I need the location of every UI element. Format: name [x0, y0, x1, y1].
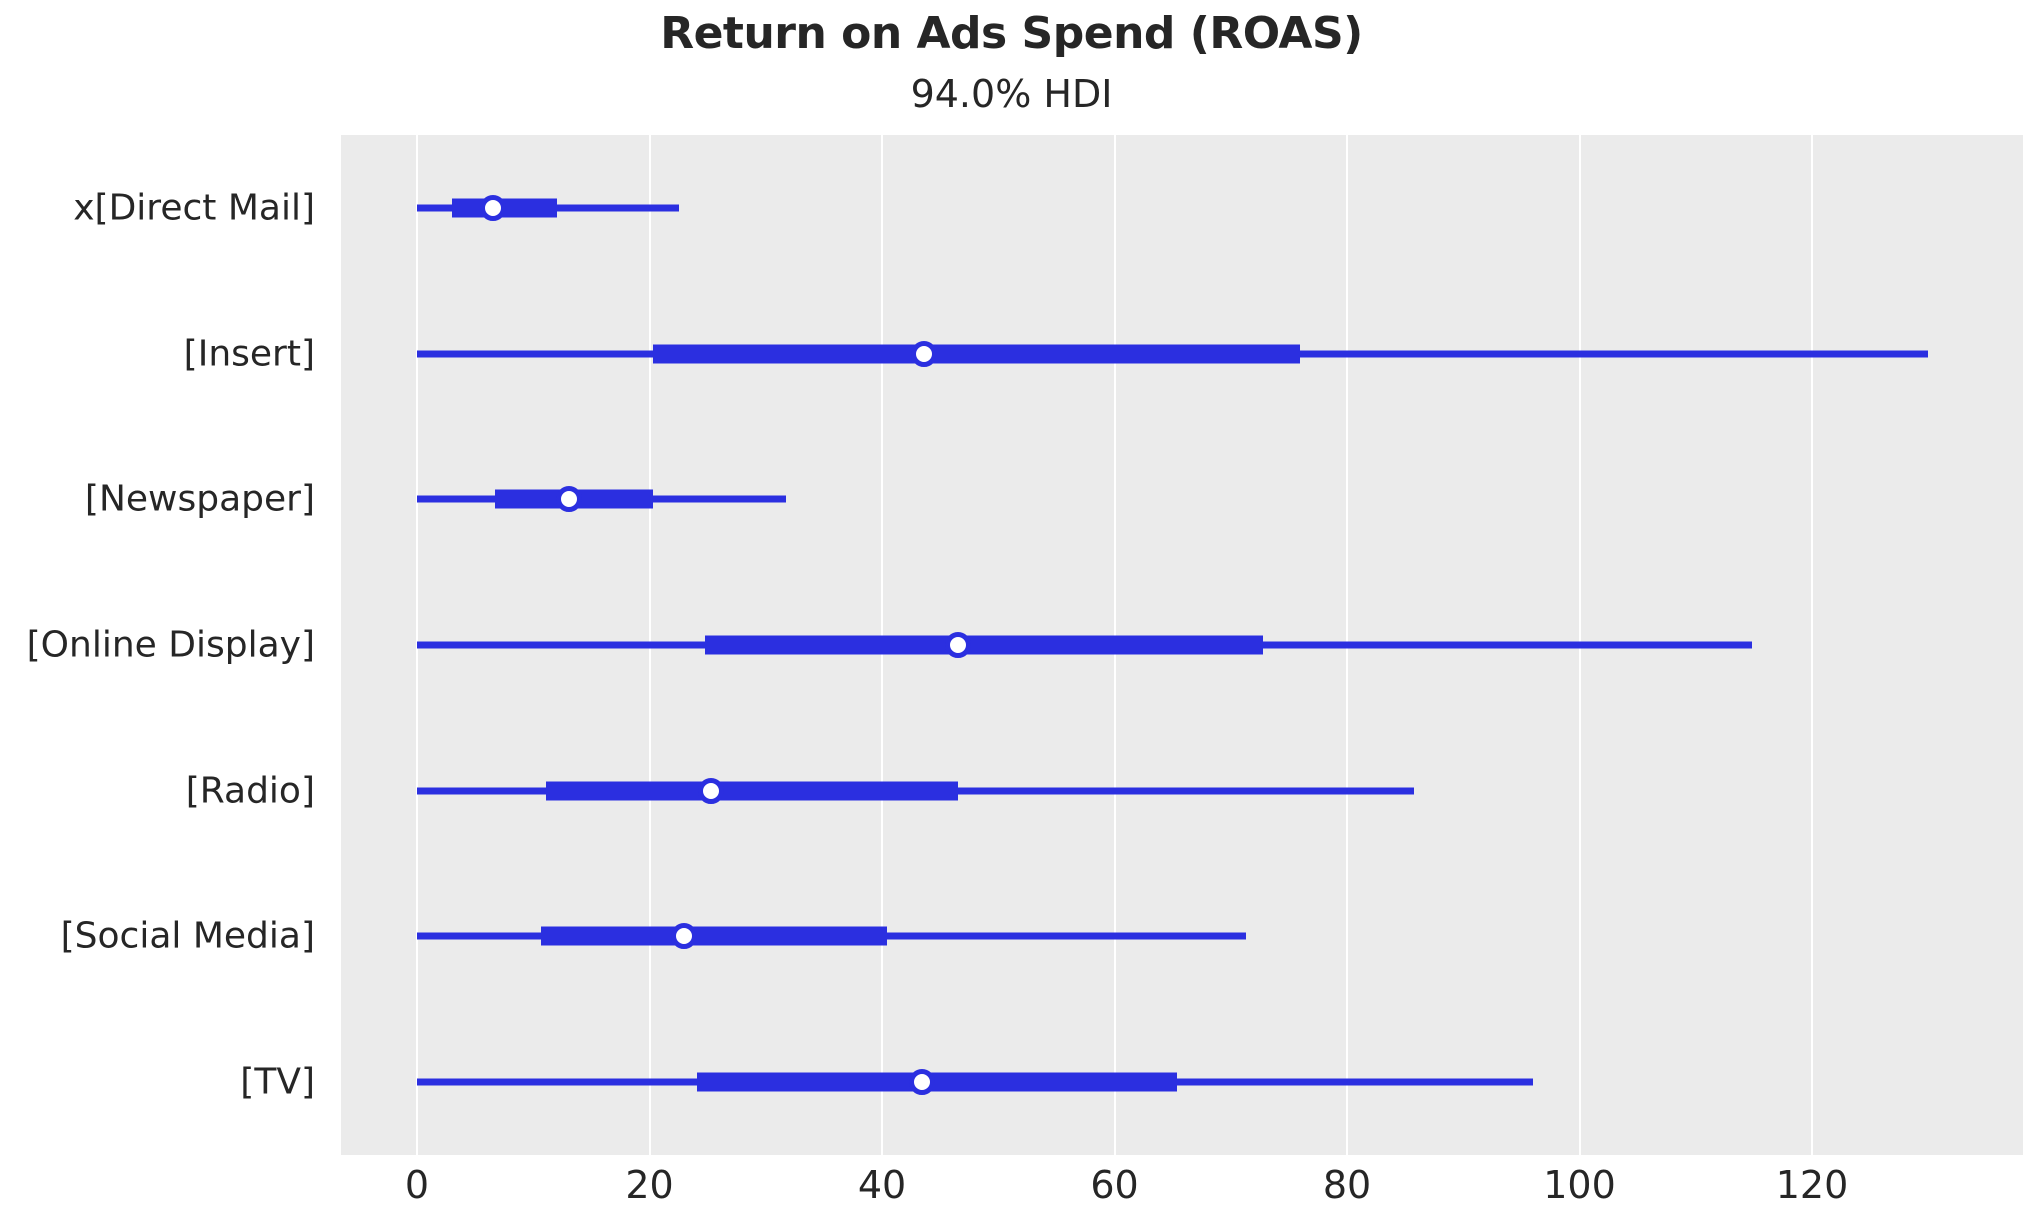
interval-row	[341, 479, 2023, 519]
x-axis-tick-label: 20	[625, 1163, 673, 1207]
y-axis-tick-label: [TV]	[240, 1062, 315, 1103]
interval-row	[341, 188, 2023, 228]
plot-area	[341, 135, 2023, 1155]
x-axis-tick-label: 40	[858, 1163, 906, 1207]
x-axis-tick-label: 80	[1323, 1163, 1371, 1207]
hdi-inner-interval	[653, 344, 1301, 363]
hdi-inner-interval	[705, 636, 1263, 655]
y-axis-tick-label: [Online Display]	[27, 625, 315, 666]
y-axis-tick-label: [Insert]	[184, 333, 315, 374]
point-estimate-marker	[909, 1069, 935, 1095]
hdi-inner-interval	[697, 1073, 1177, 1092]
point-estimate-marker	[480, 195, 506, 221]
forest-plot-figure: Return on Ads Spend (ROAS) 94.0% HDI x[D…	[0, 0, 2023, 1223]
y-axis-tick-label: [Social Media]	[61, 916, 315, 957]
interval-row	[341, 334, 2023, 374]
chart-subtitle: 94.0% HDI	[0, 72, 2023, 116]
point-estimate-marker	[911, 341, 937, 367]
x-axis-tick-label: 120	[1776, 1163, 1849, 1207]
y-axis-tick-label: [Newspaper]	[85, 479, 315, 520]
point-estimate-marker	[556, 486, 582, 512]
hdi-inner-interval	[541, 927, 886, 946]
x-axis-tick-label: 60	[1090, 1163, 1138, 1207]
hdi-inner-interval	[546, 781, 958, 800]
interval-row	[341, 916, 2023, 956]
x-axis-tick-label: 100	[1543, 1163, 1616, 1207]
interval-row	[341, 771, 2023, 811]
y-axis-tick-label: [Radio]	[186, 770, 315, 811]
point-estimate-marker	[698, 778, 724, 804]
y-axis-tick-label: x[Direct Mail]	[73, 187, 315, 228]
page-title: Return on Ads Spend (ROAS)	[0, 8, 2023, 59]
x-axis-tick-label: 0	[405, 1163, 429, 1207]
interval-row	[341, 625, 2023, 665]
interval-row	[341, 1062, 2023, 1102]
point-estimate-marker	[671, 923, 697, 949]
point-estimate-marker	[945, 632, 971, 658]
